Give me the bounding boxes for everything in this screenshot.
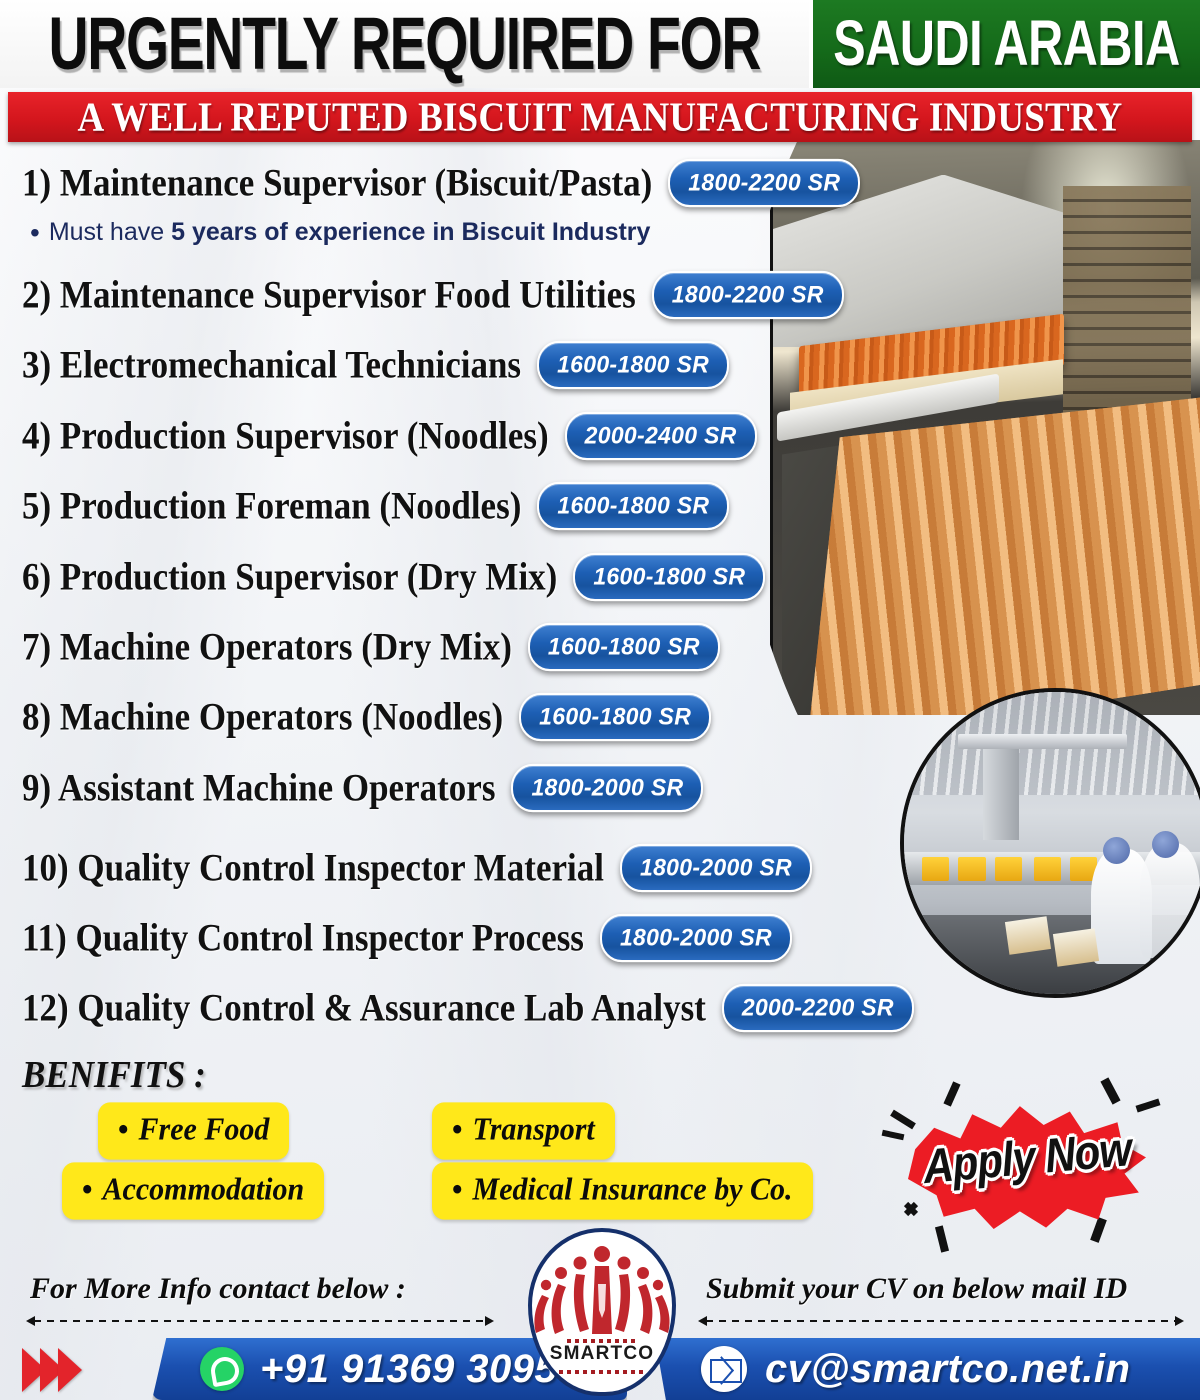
fountain-logo-icon — [532, 1244, 672, 1340]
sparkle-icon — [935, 1225, 949, 1252]
salary-badge: 1800-2200 SR — [668, 159, 860, 207]
logo-name: SMARTCO — [532, 1343, 672, 1365]
email-contact-bar[interactable]: cv@smartco.net.in — [655, 1338, 1200, 1400]
sparkle-icon — [943, 1081, 960, 1106]
subtitle-banner: A WELL REPUTED BISCUIT MANUFACTURING IND… — [8, 92, 1192, 142]
salary-badge: 1800-2000 SR — [511, 764, 703, 812]
job-row: 1) Maintenance Supervisor (Biscuit/Pasta… — [22, 160, 860, 206]
envelope-icon — [701, 1346, 747, 1392]
biscuit-production-line-photo — [770, 140, 1200, 715]
sparkle-icon — [1090, 1217, 1107, 1243]
benefit-item-free-food: •Free Food — [98, 1102, 289, 1159]
benefit-item-medical-insurance: •Medical Insurance by Co. — [432, 1162, 813, 1219]
job-title: 1) Maintenance Supervisor (Biscuit/Pasta… — [22, 161, 652, 206]
salary-badge: 1600-1800 SR — [537, 341, 729, 389]
job-row: 9) Assistant Machine Operators1800-2000 … — [22, 765, 703, 811]
header-main-title-block: URGENTLY REQUIRED FOR — [0, 0, 809, 88]
job-title: 9) Assistant Machine Operators — [22, 766, 495, 811]
benefit-label: Free Food — [139, 1112, 270, 1147]
job-title: 2) Maintenance Supervisor Food Utilities — [22, 273, 636, 318]
sparkle-icon — [1100, 1077, 1120, 1104]
bullet-icon: • — [118, 1112, 129, 1147]
salary-badge: 1600-1800 SR — [537, 482, 729, 530]
job-title: 10) Quality Control Inspector Material — [22, 846, 604, 891]
job-title: 11) Quality Control Inspector Process — [22, 916, 584, 961]
job-title: 4) Production Supervisor (Noodles) — [22, 414, 549, 459]
apply-now-button[interactable]: Apply Now — [908, 1098, 1146, 1233]
benefit-label: Medical Insurance by Co. — [473, 1172, 793, 1207]
sparkle-icon — [882, 1130, 905, 1140]
job-row: 5) Production Foreman (Noodles)1600-1800… — [22, 483, 729, 529]
sparkle-icon — [890, 1110, 916, 1130]
job-title: 3) Electromechanical Technicians — [22, 343, 521, 388]
job-title: 7) Machine Operators (Dry Mix) — [22, 625, 512, 670]
salary-badge: 1600-1800 SR — [519, 693, 711, 741]
page-title: URGENTLY REQUIRED FOR — [49, 2, 761, 87]
job-row: 6) Production Supervisor (Dry Mix)1600-1… — [22, 554, 765, 600]
factory-workers-photo — [900, 688, 1200, 998]
job-row: 4) Production Supervisor (Noodles)2000-2… — [22, 413, 757, 459]
contact-info-label: For More Info contact below : — [30, 1272, 406, 1306]
bullet-icon: • — [452, 1172, 463, 1207]
chevron-arrows-icon — [22, 1348, 76, 1392]
cv-submit-label: Submit your CV on below mail ID — [706, 1272, 1127, 1306]
job-row: 8) Machine Operators (Noodles)1600-1800 … — [22, 694, 711, 740]
job-requirement-note: •Must have 5 years of experience in Bisc… — [30, 218, 650, 247]
job-advertisement-poster: URGENTLY REQUIRED FOR SAUDI ARABIA A WEL… — [0, 0, 1200, 1400]
sparkle-icon — [1136, 1098, 1161, 1112]
salary-badge: 1800-2000 SR — [600, 914, 792, 962]
salary-badge: 2000-2200 SR — [722, 984, 914, 1032]
bullet-icon: • — [30, 219, 40, 247]
job-title: 12) Quality Control & Assurance Lab Anal… — [22, 986, 706, 1031]
bullet-icon: • — [82, 1172, 93, 1207]
note-emphasis: 5 years of experience in Biscuit Industr… — [171, 218, 650, 246]
job-row: 2) Maintenance Supervisor Food Utilities… — [22, 272, 844, 318]
country-title: SAUDI ARABIA — [833, 7, 1180, 80]
salary-badge: 1800-2200 SR — [652, 271, 844, 319]
job-row: 10) Quality Control Inspector Material18… — [22, 845, 812, 891]
salary-badge: 1800-2000 SR — [620, 844, 812, 892]
job-row: 12) Quality Control & Assurance Lab Anal… — [22, 985, 914, 1031]
whatsapp-icon — [200, 1347, 244, 1391]
contact-divider — [34, 1320, 486, 1322]
salary-badge: 1600-1800 SR — [573, 553, 765, 601]
job-title: 8) Machine Operators (Noodles) — [22, 695, 503, 740]
job-title: 5) Production Foreman (Noodles) — [22, 484, 521, 529]
salary-badge: 2000-2400 SR — [565, 412, 757, 460]
cv-divider — [706, 1320, 1176, 1322]
job-row: 11) Quality Control Inspector Process180… — [22, 915, 792, 961]
subtitle-text: A WELL REPUTED BISCUIT MANUFACTURING IND… — [78, 93, 1123, 141]
benefit-item-accommodation: •Accommodation — [62, 1162, 324, 1219]
salary-badge: 1600-1800 SR — [528, 623, 720, 671]
job-title: 6) Production Supervisor (Dry Mix) — [22, 555, 557, 600]
logo-dot-row — [559, 1370, 645, 1374]
header-country-block: SAUDI ARABIA — [809, 0, 1200, 88]
benefit-item-transport: •Transport — [432, 1102, 615, 1159]
benefits-heading: BENIFITS : — [22, 1053, 206, 1097]
job-row: 3) Electromechanical Technicians1600-180… — [22, 342, 729, 388]
email-address: cv@smartco.net.in — [765, 1347, 1130, 1392]
poster-header: URGENTLY REQUIRED FOR SAUDI ARABIA — [0, 0, 1200, 88]
note-text: Must have 5 years of experience in Biscu… — [49, 218, 651, 247]
bullet-icon: • — [452, 1112, 463, 1147]
smartco-logo: SMARTCO — [528, 1228, 676, 1396]
job-row: 7) Machine Operators (Dry Mix)1600-1800 … — [22, 624, 720, 670]
benefit-label: Accommodation — [103, 1172, 305, 1207]
benefit-label: Transport — [473, 1112, 595, 1147]
